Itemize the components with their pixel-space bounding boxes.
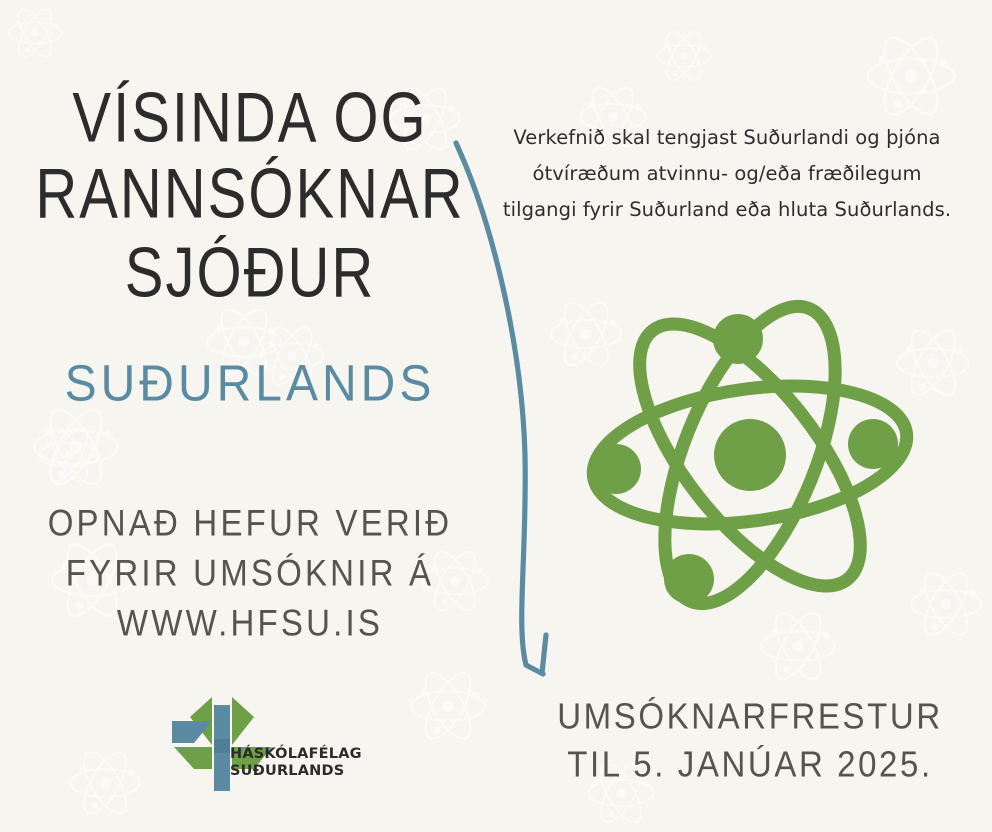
deadline-line-2: TIL 5. JANÚAR 2025. xyxy=(520,738,980,791)
headline-line-2: RANNSÓKNAR xyxy=(0,154,500,234)
headline-subtitle: SUÐURLANDS xyxy=(0,355,500,413)
atom-watermark-icon xyxy=(30,418,108,492)
atom-watermark-icon xyxy=(0,0,70,66)
headline-line-1: VÍSINDA OG xyxy=(0,78,500,158)
atom-icon xyxy=(575,292,925,622)
atom-watermark-icon xyxy=(648,22,720,90)
deadline-block: UMSÓKNARFRESTUR TIL 5. JANÚAR 2025. xyxy=(520,690,980,786)
lede-paragraph: Verkefnið skal tengjast Suðurlandi og þj… xyxy=(497,120,957,228)
deadline-line-1: UMSÓKNARFRESTUR xyxy=(520,690,980,743)
logo-wordmark-line-2: SUÐURLANDS xyxy=(230,763,362,780)
cta-website-url[interactable]: WWW.HFSU.IS xyxy=(0,595,500,651)
logo-wordmark-line-1: HÁSKÓLAFÉLAG xyxy=(230,746,362,763)
page-title: VÍSINDA OG RANNSÓKNAR SJÓÐUR xyxy=(0,78,500,299)
call-to-action-block: OPNAÐ HEFUR VERIÐ FYRIR UMSÓKNIR Á WWW.H… xyxy=(0,495,500,645)
cta-line-2: FYRIR UMSÓKNIR Á xyxy=(0,545,500,601)
headline-line-3: SJÓÐUR xyxy=(0,233,500,313)
cta-line-1: OPNAÐ HEFUR VERIÐ xyxy=(0,495,500,551)
poster-canvas: VÍSINDA OG RANNSÓKNAR SJÓÐUR SUÐURLANDS … xyxy=(0,0,992,832)
atom-watermark-icon xyxy=(855,22,967,130)
atom-watermark-icon xyxy=(60,740,150,826)
organization-logo[interactable]: HÁSKÓLAFÉLAG SUÐURLANDS xyxy=(168,683,368,798)
logo-wordmark: HÁSKÓLAFÉLAG SUÐURLANDS xyxy=(230,746,362,780)
